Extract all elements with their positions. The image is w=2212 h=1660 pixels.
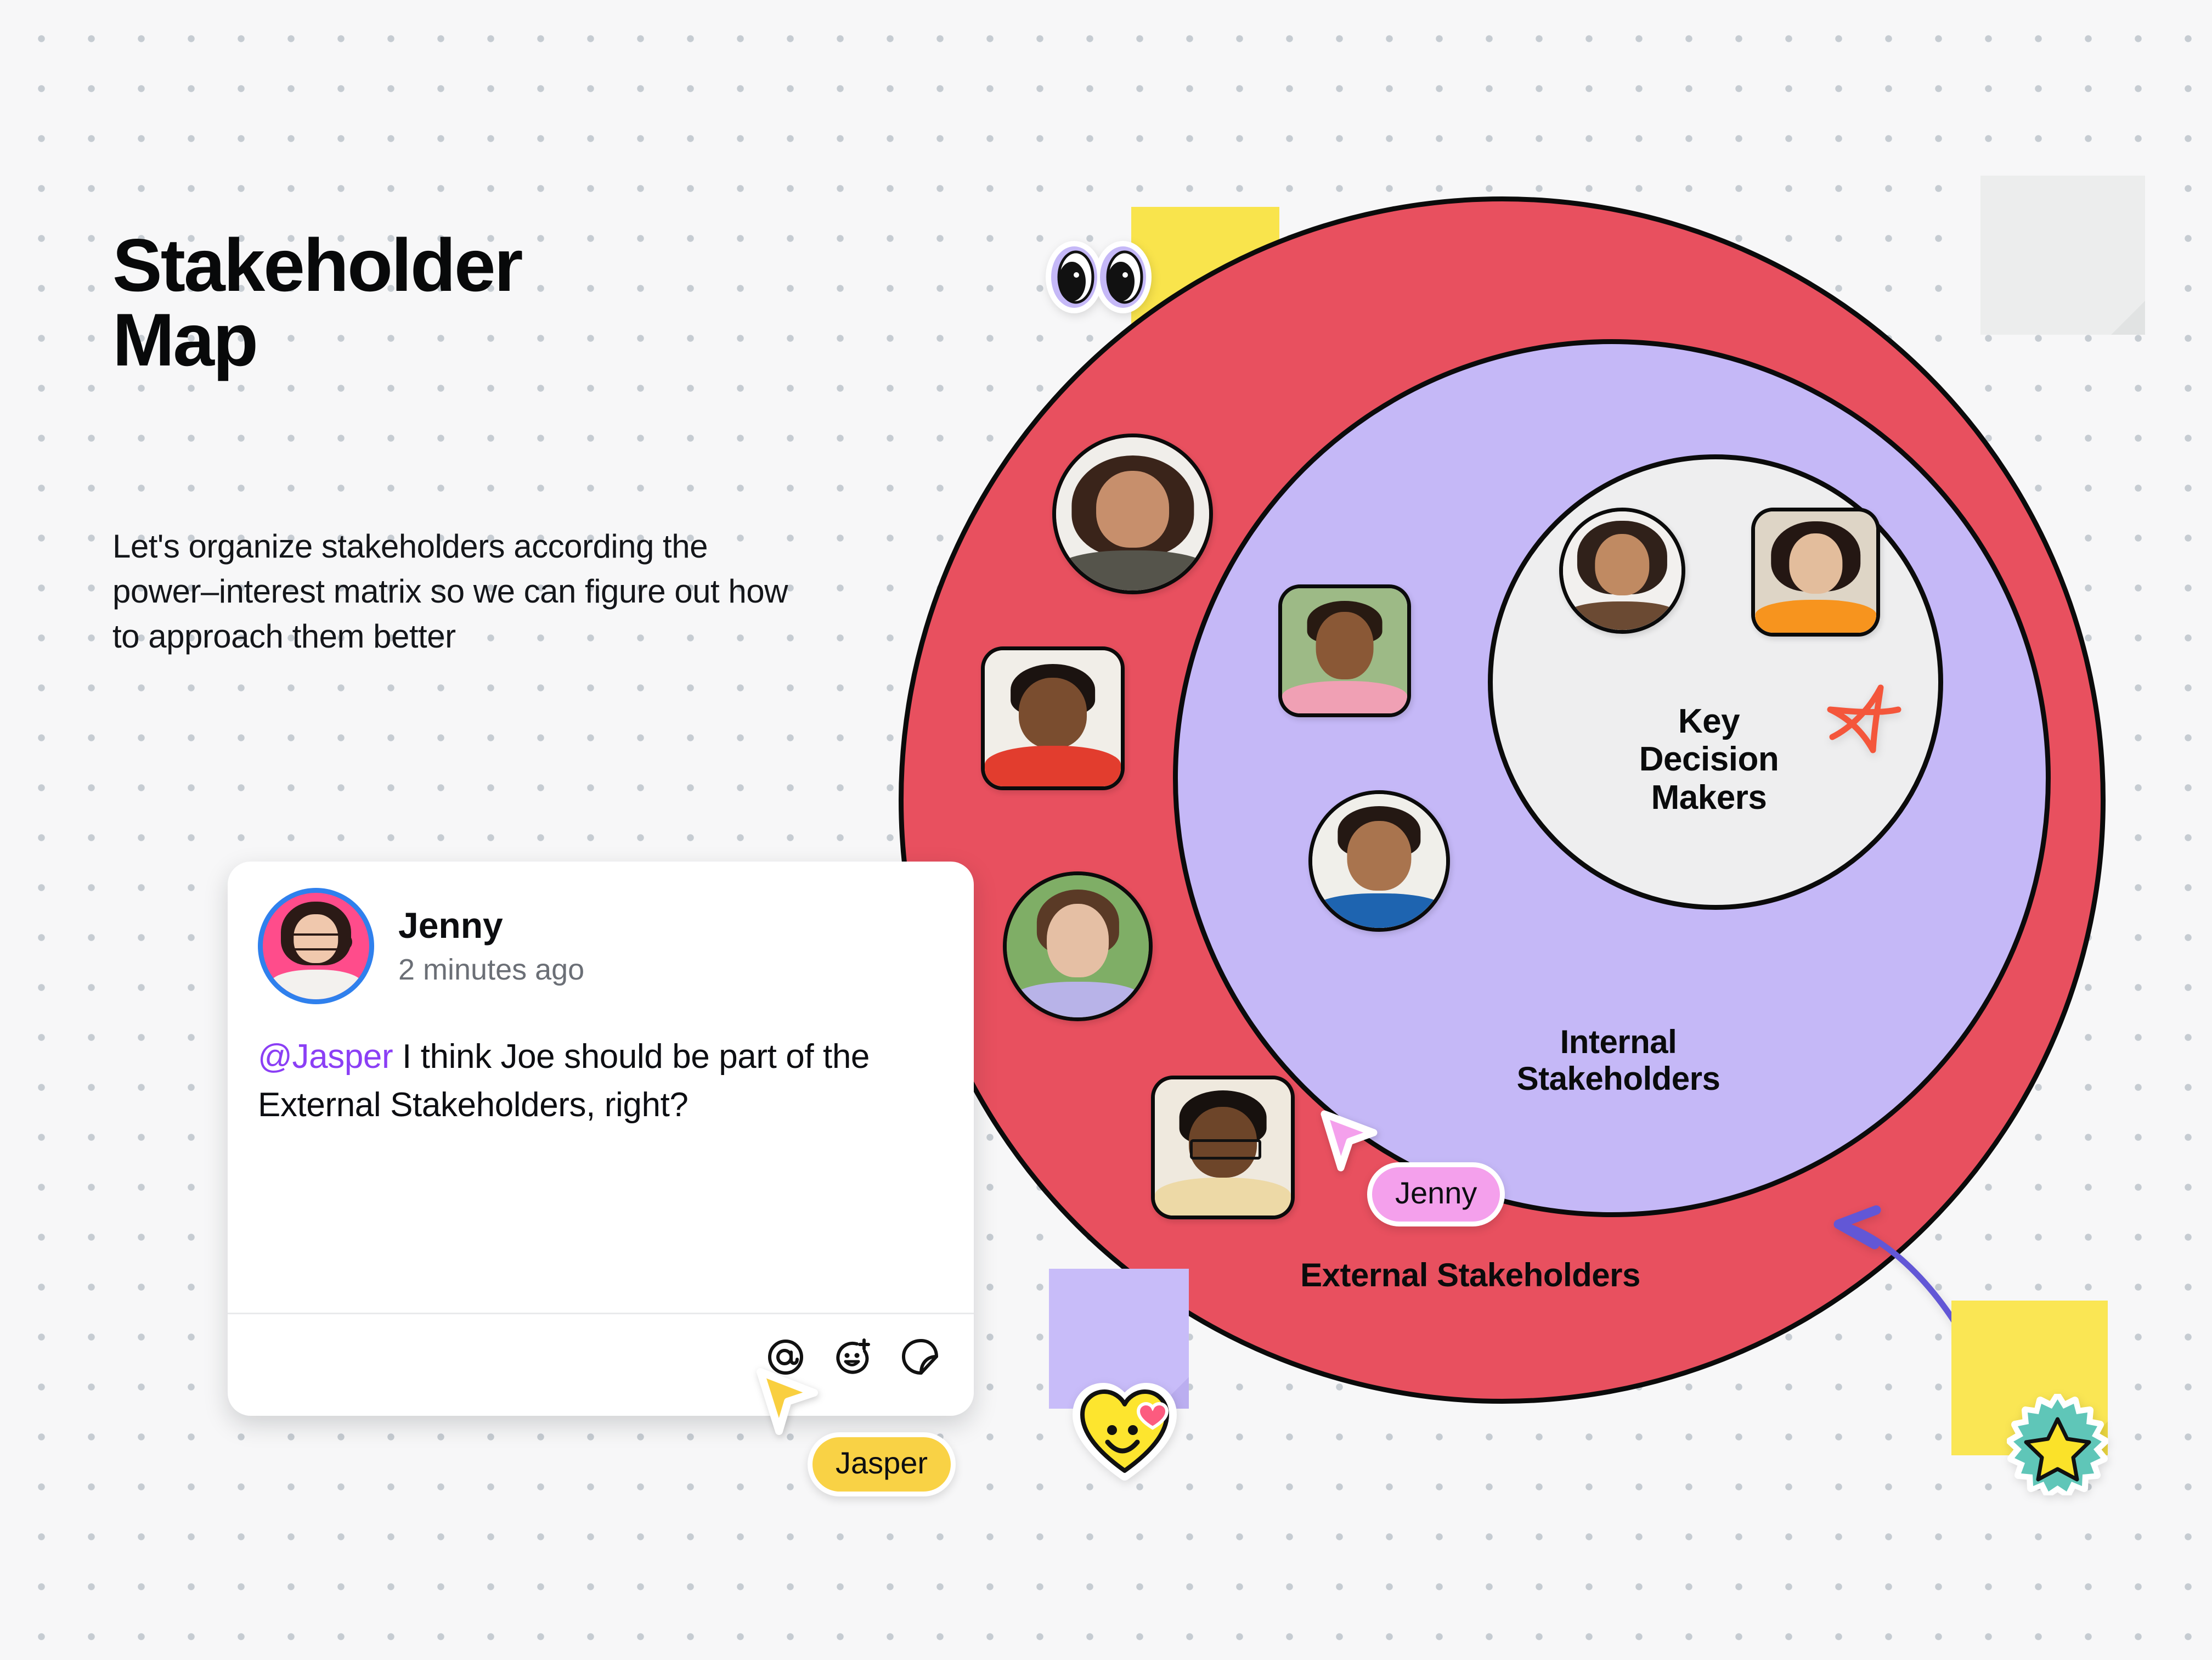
avatar-internal-1[interactable] <box>1278 584 1411 717</box>
sticky-note-body <box>1980 176 2145 335</box>
avatar-key-2[interactable] <box>1751 508 1880 637</box>
avatar-jenny[interactable] <box>258 888 374 1004</box>
page-subtitle: Let's organize stakeholders according th… <box>112 524 804 660</box>
avatar-external-2[interactable] <box>981 646 1125 790</box>
avatar-external-3[interactable] <box>1003 871 1153 1021</box>
cursor-label-jasper: Jasper <box>808 1432 956 1496</box>
label-key-line-1: Key <box>1605 702 1813 740</box>
avatar-internal-2[interactable] <box>1308 790 1450 932</box>
star-burst-sticker[interactable] <box>2007 1394 2108 1495</box>
comment-card-header: Jenny 2 minutes ago <box>228 862 974 1004</box>
comment-body: @Jasper I think Joe should be part of th… <box>228 1004 974 1129</box>
label-internal-stakeholders: Internal Stakeholders <box>1481 1023 1756 1097</box>
doodle-star <box>1816 678 1904 760</box>
cursor-jenny <box>1317 1108 1383 1177</box>
avatar-external-4[interactable] <box>1151 1076 1295 1219</box>
cursor-label-jenny: Jenny <box>1367 1162 1505 1226</box>
add-reaction-icon[interactable] <box>832 1337 873 1377</box>
comment-card-meta: Jenny 2 minutes ago <box>398 905 584 987</box>
heart-smiley-sticker[interactable] <box>1073 1383 1177 1482</box>
comment-author-name: Jenny <box>398 905 584 946</box>
comment-card-divider <box>228 1313 974 1314</box>
label-internal-line-1: Internal <box>1481 1023 1756 1060</box>
comment-card[interactable]: Jenny 2 minutes ago @Jasper I think Joe … <box>228 862 974 1416</box>
label-key-line-2: Decision <box>1605 740 1813 778</box>
avatar-key-1[interactable] <box>1559 508 1685 634</box>
label-external-stakeholders: External Stakeholders <box>1251 1257 1690 1293</box>
eyes-sticker[interactable] <box>1042 233 1155 321</box>
label-internal-line-2: Stakeholders <box>1481 1060 1756 1097</box>
page-title-line-1: Stakeholder <box>112 228 881 302</box>
comment-timestamp: 2 minutes ago <box>398 953 584 987</box>
sticker-icon[interactable] <box>899 1337 940 1377</box>
cursor-jasper <box>752 1366 823 1440</box>
page-title-line-2: Map <box>112 302 881 377</box>
label-key-line-3: Makers <box>1605 779 1813 817</box>
sticky-note-gray[interactable] <box>1980 176 2145 335</box>
whiteboard-canvas[interactable]: Stakeholder Map Let's organize stakehold… <box>0 0 2212 1660</box>
page-title: Stakeholder Map <box>112 228 881 377</box>
avatar-external-1[interactable] <box>1052 434 1213 594</box>
label-key-decision-makers: Key Decision Makers <box>1605 702 1813 817</box>
comment-mention[interactable]: @Jasper <box>258 1038 393 1076</box>
